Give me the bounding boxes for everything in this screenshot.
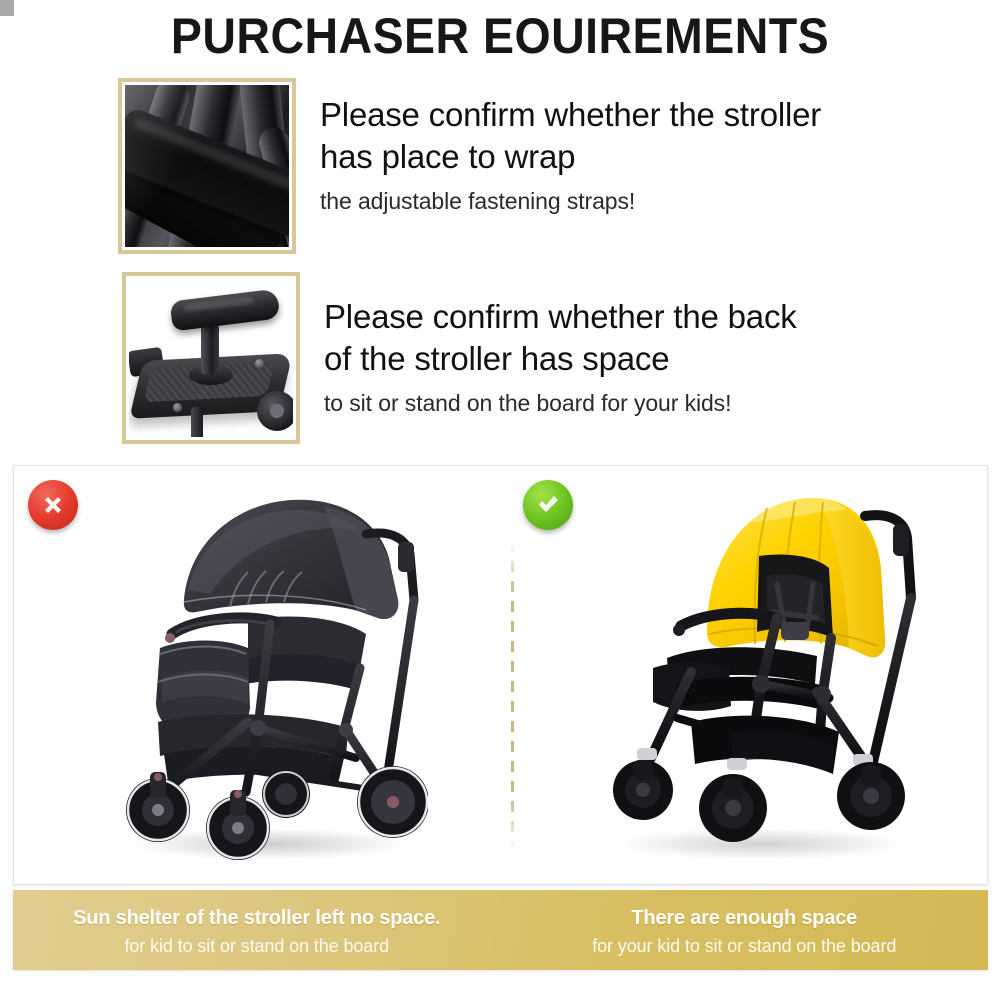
caption-sub-text: for kid to sit or stand on the board <box>124 933 389 959</box>
requirement-row-1: Please confirm whether the stroller has … <box>118 78 821 254</box>
stroller-image-right <box>512 472 988 884</box>
requirement-text-2: Please confirm whether the back of the s… <box>324 272 797 418</box>
caption-main-text: There are enough space <box>631 905 857 931</box>
corner-artifact <box>0 0 14 16</box>
stroller-image-left <box>14 472 512 884</box>
requirement-heading: Please confirm whether the back of the s… <box>324 296 797 380</box>
requirement-row-2: Please confirm whether the back of the s… <box>122 272 797 444</box>
comparison-panel-left <box>14 466 512 884</box>
requirement-subtext: the adjustable fastening straps! <box>320 186 821 216</box>
caption-left: Sun shelter of the stroller left no spac… <box>13 890 501 970</box>
strap-scene <box>125 85 289 247</box>
gloss-overlay <box>125 85 289 247</box>
page-root: PURCHASER EOUIREMENTS Please confirm wh <box>0 0 1000 997</box>
board-scene <box>129 279 293 437</box>
thumbnail-frame-strap <box>118 78 296 254</box>
requirement-heading: Please confirm whether the stroller has … <box>320 94 821 178</box>
saddle-seat-icon <box>170 289 281 332</box>
screw-icon <box>173 403 182 412</box>
buggy-board-image <box>129 279 293 437</box>
caption-sub-text: for your kid to sit or stand on the boar… <box>592 933 896 959</box>
caption-main-text: Sun shelter of the stroller left no spac… <box>73 905 440 931</box>
requirement-text-1: Please confirm whether the stroller has … <box>320 78 821 216</box>
requirement-subtext: to sit or stand on the board for your ki… <box>324 388 797 418</box>
caption-bar: Sun shelter of the stroller left no spac… <box>13 890 988 970</box>
page-title: PURCHASER EOUIREMENTS <box>35 8 965 64</box>
thumbnail-frame-board <box>122 272 300 444</box>
board-wheel-icon <box>257 391 293 431</box>
screw-icon <box>255 359 264 368</box>
caption-right: There are enough space for your kid to s… <box>501 890 989 970</box>
comparison-panel-right <box>512 466 988 884</box>
comparison-card <box>13 465 988 885</box>
stroller-strap-closeup-image <box>125 85 289 247</box>
board-stem-icon <box>191 407 203 437</box>
saddle-post-icon <box>201 323 219 375</box>
